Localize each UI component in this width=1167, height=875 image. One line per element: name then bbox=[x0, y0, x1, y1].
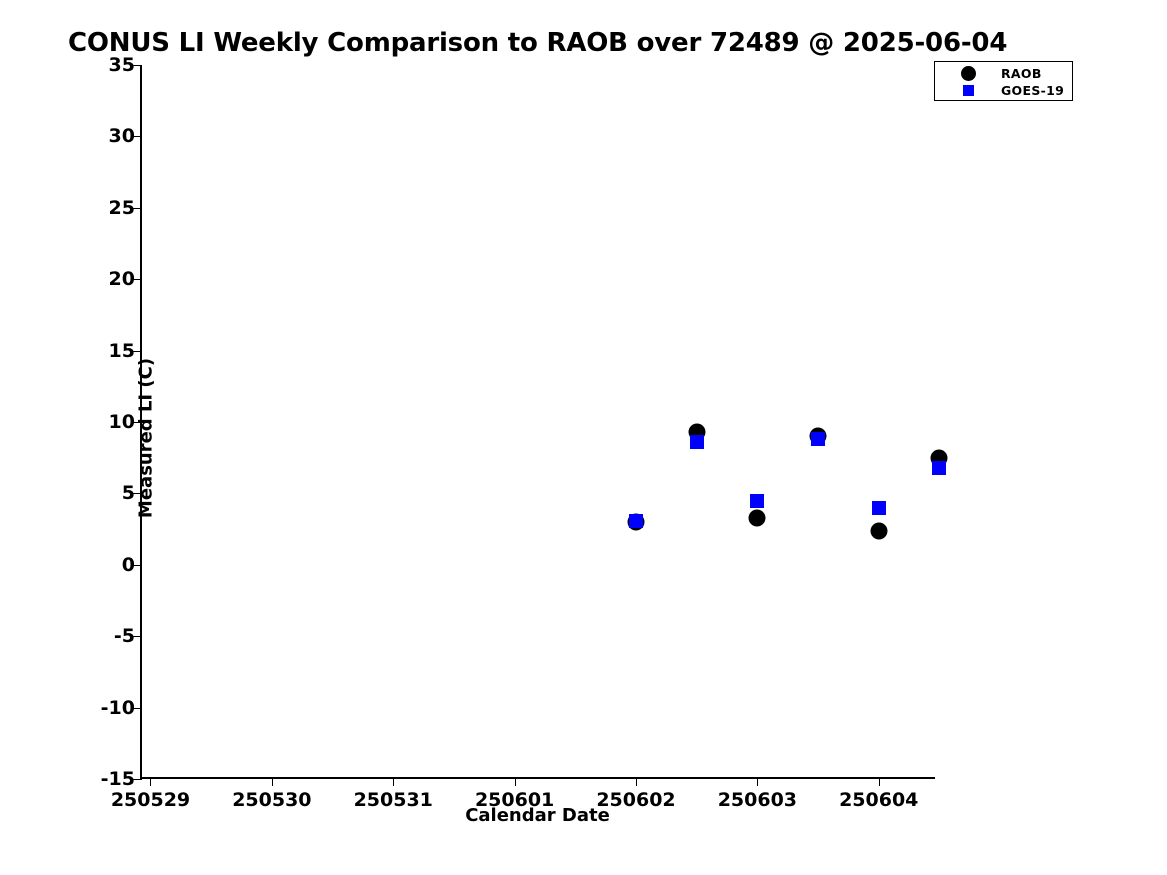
legend-item-goes19: GOES-19 bbox=[935, 81, 1072, 99]
legend-circle-icon bbox=[935, 66, 1001, 81]
y-tick-label: 10 bbox=[109, 411, 135, 433]
x-tick-mark bbox=[393, 777, 394, 786]
y-axis-label: Measured LI (C) bbox=[136, 357, 157, 517]
x-tick-mark bbox=[272, 777, 273, 786]
y-tick-label: 0 bbox=[122, 554, 135, 576]
data-point-raob bbox=[749, 509, 766, 526]
x-tick-mark bbox=[150, 777, 151, 786]
x-tick-mark bbox=[515, 777, 516, 786]
page-title: CONUS LI Weekly Comparison to RAOB over … bbox=[68, 28, 1007, 58]
x-axis-label: Calendar Date bbox=[140, 805, 935, 826]
data-point-goes-19 bbox=[629, 514, 643, 528]
y-tick-label: 30 bbox=[109, 125, 135, 147]
x-tick-mark bbox=[757, 777, 758, 786]
x-tick-mark bbox=[879, 777, 880, 786]
y-tick-label: 35 bbox=[109, 54, 135, 76]
y-tick-label: 20 bbox=[109, 268, 135, 290]
chart-legend: RAOB GOES-19 bbox=[934, 61, 1073, 101]
y-tick-label: 15 bbox=[109, 340, 135, 362]
data-point-goes-19 bbox=[932, 461, 946, 475]
y-tick-label: 25 bbox=[109, 197, 135, 219]
y-tick-label: -5 bbox=[114, 625, 135, 647]
legend-square-icon bbox=[935, 85, 1001, 96]
data-point-goes-19 bbox=[690, 435, 704, 449]
plot-area: 35302520151050-5-10-15 25052925053025053… bbox=[140, 65, 935, 779]
legend-label-goes19: GOES-19 bbox=[1001, 83, 1064, 98]
legend-item-raob: RAOB bbox=[935, 64, 1072, 82]
data-point-raob bbox=[870, 522, 887, 539]
legend-label-raob: RAOB bbox=[1001, 66, 1042, 81]
data-point-goes-19 bbox=[872, 501, 886, 515]
data-point-goes-19 bbox=[750, 494, 764, 508]
data-point-goes-19 bbox=[811, 432, 825, 446]
y-tick-label: -10 bbox=[101, 697, 135, 719]
chart-figure: CONUS LI Weekly Comparison to RAOB over … bbox=[0, 0, 1167, 875]
x-tick-mark bbox=[636, 777, 637, 786]
y-tick-label: 5 bbox=[122, 482, 135, 504]
y-tick-label: -15 bbox=[101, 768, 135, 790]
